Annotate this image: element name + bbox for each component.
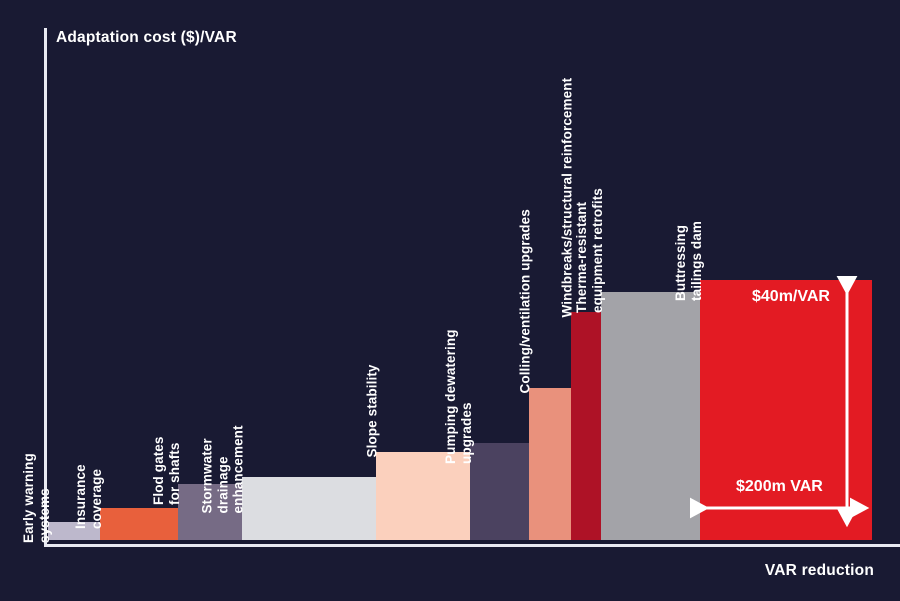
bar-label-line: Flod gates	[151, 436, 167, 505]
bar[interactable]	[178, 484, 242, 540]
chart-canvas: Adaptation cost ($)/VAR VAR reduction Ea…	[0, 0, 900, 601]
annotation-cost-per-var: $40m/VAR	[752, 288, 830, 306]
bar-label-line: Slope stability	[365, 364, 381, 457]
bar-label-line: Early warning	[21, 453, 37, 543]
bar-label: Windbreaks/structural reinforcement	[560, 78, 576, 318]
bar-label-line: Buttressing	[673, 221, 689, 301]
bar[interactable]	[48, 522, 100, 540]
bar[interactable]	[601, 292, 700, 540]
bar-label: Slope stability	[365, 364, 381, 457]
bar[interactable]	[242, 477, 376, 540]
bar[interactable]	[376, 452, 470, 540]
plot-area: Early warningsystemsInsurancecoverageFlo…	[0, 0, 900, 547]
bar-label-line: Insurance	[73, 464, 89, 529]
bar[interactable]	[100, 508, 178, 540]
bar-label-line: Windbreaks/structural reinforcement	[560, 78, 576, 318]
bar[interactable]	[571, 312, 601, 540]
bar-label: Colling/ventilation upgrades	[518, 209, 534, 393]
bar-label-line: Pumping dewatering	[443, 329, 459, 464]
bar[interactable]	[470, 443, 529, 540]
x-axis-title: VAR reduction	[765, 562, 874, 580]
bar-label-line: Therma-resistant	[574, 188, 590, 313]
bar[interactable]	[529, 388, 571, 540]
bar-label-line: Colling/ventilation upgrades	[518, 209, 534, 393]
bar[interactable]	[700, 280, 872, 540]
annotation-var-reduction: $200m VAR	[736, 478, 823, 496]
